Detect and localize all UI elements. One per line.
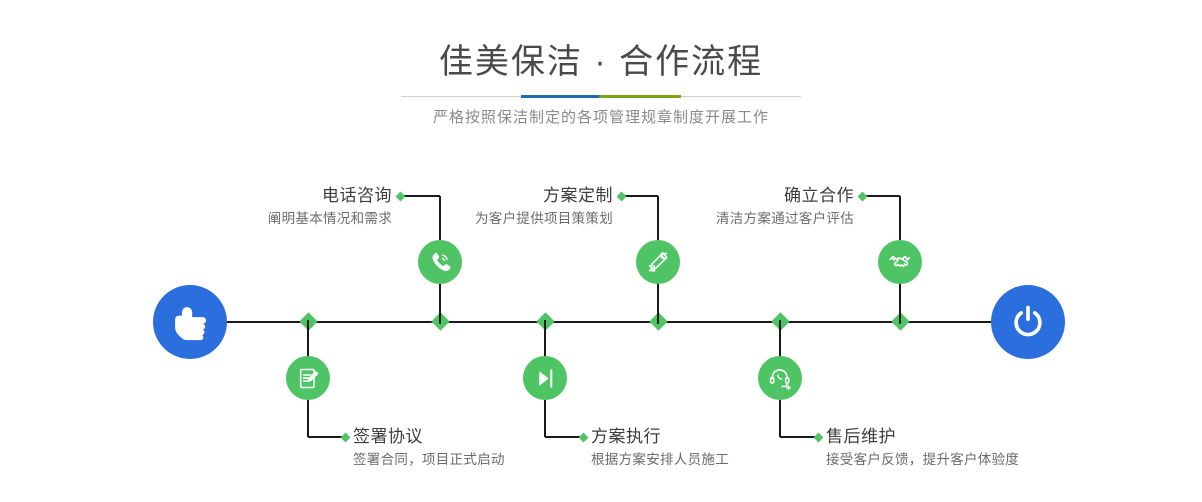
phone-consult-icon [427,249,453,275]
timeline-step-node-2[interactable] [286,356,330,400]
label-bullet-diamond [616,191,626,201]
page-title: 佳美保洁 · 合作流程 [0,38,1202,86]
step-description: 根据方案安排人员施工 [591,449,729,471]
divider-gap-right [681,95,801,98]
timeline-step-label-2: 签署协议签署合同，项目正式启动 [353,425,505,471]
timeline-leader-vertical [439,196,441,240]
timeline-end-node[interactable] [991,285,1065,359]
timeline-connector-stem [779,320,781,358]
divider-gap-left [401,95,521,98]
timeline-leader-vertical [657,196,659,240]
step-description: 为客户提供项目策策划 [475,208,613,230]
pointing-hand-icon [169,301,211,343]
power-icon [1007,301,1049,343]
step-description: 接受客户反馈，提升客户体验度 [826,449,1019,471]
execute-play-icon [533,366,558,391]
step-description: 清洁方案通过客户评估 [716,208,854,230]
timeline-start-node[interactable] [153,285,227,359]
handshake-icon [887,249,914,276]
divider-segment-blue [521,95,599,98]
timeline-step-label-4: 方案执行根据方案安排人员施工 [591,425,729,471]
timeline-leader-vertical [307,400,309,437]
timeline-connector-stem [439,282,441,324]
timeline-step-label-6: 售后维护接受客户反馈，提升客户体验度 [826,425,1019,471]
label-bullet-diamond [857,191,867,201]
timeline-step-label-3: 方案定制为客户提供项目策策划 [475,184,613,230]
timeline-leader-horizontal [400,195,440,197]
flow-diagram-canvas: 佳美保洁 · 合作流程 严格按照保洁制定的各项管理规章制度开展工作 [0,0,1202,502]
design-plan-icon [645,249,671,275]
timeline-step-node-4[interactable] [523,356,567,400]
timeline-connector-stem [899,282,901,324]
step-title: 售后维护 [826,425,1019,449]
timeline-connector-stem [307,320,309,358]
step-title: 电话咨询 [268,184,392,208]
label-bullet-diamond [340,432,350,442]
label-bullet-diamond [395,191,405,201]
timeline-step-label-5: 确立合作清洁方案通过客户评估 [716,184,854,230]
title-divider [401,95,801,98]
step-title: 方案定制 [475,184,613,208]
timeline-leader-vertical [899,196,901,240]
timeline-step-label-1: 电话咨询阐明基本情况和需求 [268,184,392,230]
timeline-connector-stem [544,320,546,358]
step-title: 签署协议 [353,425,505,449]
timeline-leader-vertical [779,400,781,437]
timeline-connector-stem [657,282,659,324]
step-description: 阐明基本情况和需求 [268,208,392,230]
page-subtitle: 严格按照保洁制定的各项管理规章制度开展工作 [0,106,1202,130]
timeline-leader-vertical [544,400,546,437]
label-bullet-diamond [813,432,823,442]
timeline-step-node-5[interactable] [878,240,922,284]
sign-document-icon [296,366,321,391]
step-description: 签署合同，项目正式启动 [353,449,505,471]
divider-segment-olive [599,95,681,98]
label-bullet-diamond [578,432,588,442]
timeline-step-node-1[interactable] [418,240,462,284]
customer-service-icon [767,365,793,391]
step-title: 确立合作 [716,184,854,208]
step-title: 方案执行 [591,425,729,449]
timeline-step-node-6[interactable] [758,356,802,400]
timeline-step-node-3[interactable] [636,240,680,284]
